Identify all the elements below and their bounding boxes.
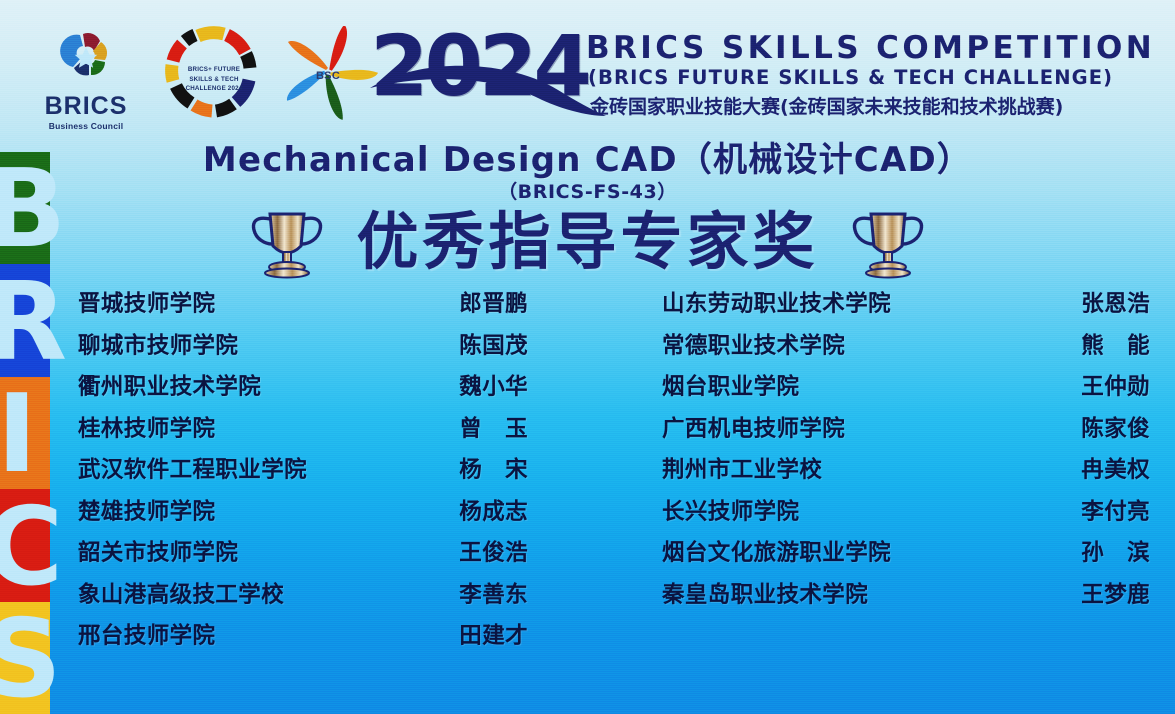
award-headline-row: 优秀指导专家奖 <box>0 196 1175 288</box>
awardee-institution: 楚雄技师学院 <box>78 494 459 526</box>
awardee-row: 烟台职业学院王仲勋 <box>662 369 1150 411</box>
trophy-icon <box>845 202 931 282</box>
awardee-row: 广西机电技师学院陈家俊 <box>662 411 1150 453</box>
awardee-row: 烟台文化旅游职业学院孙 滨 <box>662 535 1150 577</box>
awardee-row: 楚雄技师学院杨成志 <box>78 494 528 536</box>
awardee-institution: 桂林技师学院 <box>78 411 459 443</box>
awardee-person: 张恩浩 <box>1081 286 1150 318</box>
awardee-person: 杨 宋 <box>459 452 528 484</box>
brics-star-icon <box>38 26 134 88</box>
awardee-person: 李付亮 <box>1081 494 1150 526</box>
awardee-institution: 邢台技师学院 <box>78 618 459 650</box>
awardee-person: 曾 玉 <box>459 411 528 443</box>
awardee-institution: 长兴技师学院 <box>662 494 1081 526</box>
awardee-column-left: 晋城技师学院郎晋鹏聊城市技师学院陈国茂衢州职业技术学院魏小华桂林技师学院曾 玉武… <box>78 286 528 660</box>
award-board: BRICS BRICS Business Council <box>0 0 1175 714</box>
year-logo: 2024 <box>370 24 590 126</box>
business-council-text: Business Council <box>38 122 134 131</box>
awardee-institution: 武汉软件工程职业学院 <box>78 452 459 484</box>
awardee-row: 山东劳动职业技术学院张恩浩 <box>662 286 1150 328</box>
awardee-person: 孙 滨 <box>1081 535 1150 567</box>
awardee-institution: 山东劳动职业技术学院 <box>662 286 1081 318</box>
awardee-row: 邢台技师学院田建才 <box>78 618 528 660</box>
awardee-row: 象山港高级技工学校李善东 <box>78 577 528 619</box>
awardee-institution: 烟台职业学院 <box>662 369 1081 401</box>
awardee-institution: 晋城技师学院 <box>78 286 459 318</box>
awardee-person: 王仲勋 <box>1081 369 1150 401</box>
awardee-institution: 韶关市技师学院 <box>78 535 459 567</box>
awardee-person: 田建才 <box>459 618 528 650</box>
brics-wordmark-text: BRICS <box>38 94 134 119</box>
ring-caption: BRICS+ FUTURE SKILLS & TECH CHALLENGE 20… <box>178 65 250 94</box>
awardee-institution: 常德职业技术学院 <box>662 328 1081 360</box>
awardee-institution: 秦皇岛职业技术学院 <box>662 577 1081 609</box>
awardee-person: 郎晋鹏 <box>459 286 528 318</box>
awardee-person: 杨成志 <box>459 494 528 526</box>
awardee-row: 武汉软件工程职业学院杨 宋 <box>78 452 528 494</box>
awardee-person: 冉美权 <box>1081 452 1150 484</box>
awardee-row: 桂林技师学院曾 玉 <box>78 411 528 453</box>
awardee-row: 韶关市技师学院王俊浩 <box>78 535 528 577</box>
ring-caption-line2: SKILLS & TECH <box>178 75 250 85</box>
awardee-person: 熊 能 <box>1081 328 1150 360</box>
ring-caption-line1: BRICS+ FUTURE <box>178 65 250 75</box>
awardee-person: 魏小华 <box>459 369 528 401</box>
awardee-institution: 广西机电技师学院 <box>662 411 1081 443</box>
awardee-person: 王梦鹿 <box>1081 577 1150 609</box>
awardee-person: 王俊浩 <box>459 535 528 567</box>
ring-caption-line3: CHALLENGE 2024 <box>178 84 250 94</box>
competition-subtitle-cn: 金砖国家职业技能大赛(金砖国家未来技能和技术挑战赛) <box>590 92 1063 119</box>
brics-business-council-logo: BRICS Business Council <box>38 26 134 131</box>
bsc-label: BSC <box>274 70 382 82</box>
awardee-column-right: 山东劳动职业技术学院张恩浩常德职业技术学院熊 能烟台职业学院王仲勋广西机电技师学… <box>662 286 1150 618</box>
awardee-person: 李善东 <box>459 577 528 609</box>
awardee-row: 荆州市工业学校冉美权 <box>662 452 1150 494</box>
awardee-person: 陈家俊 <box>1081 411 1150 443</box>
awardee-row: 长兴技师学院李付亮 <box>662 494 1150 536</box>
awardee-row: 秦皇岛职业技术学院王梦鹿 <box>662 577 1150 619</box>
awardee-institution: 象山港高级技工学校 <box>78 577 459 609</box>
awardee-institution: 荆州市工业学校 <box>662 452 1081 484</box>
awardee-lists: 晋城技师学院郎晋鹏聊城市技师学院陈国茂衢州职业技术学院魏小华桂林技师学院曾 玉武… <box>0 286 1175 686</box>
award-title: 优秀指导专家奖 <box>356 211 818 273</box>
awardee-institution: 聊城市技师学院 <box>78 328 459 360</box>
future-skills-ring-logo: BRICS+ FUTURE SKILLS & TECH CHALLENGE 20… <box>148 26 266 127</box>
module-title: Mechanical Design CAD（机械设计CAD） <box>0 132 1175 181</box>
awardee-row: 晋城技师学院郎晋鹏 <box>78 286 528 328</box>
awardee-row: 衢州职业技术学院魏小华 <box>78 369 528 411</box>
year-number: 2024 <box>370 24 588 108</box>
awardee-row: 常德职业技术学院熊 能 <box>662 328 1150 370</box>
logo-row: BRICS Business Council <box>38 26 382 131</box>
awardee-institution: 烟台文化旅游职业学院 <box>662 535 1081 567</box>
bsc-logo: BSC <box>274 26 382 127</box>
trophy-icon <box>244 202 330 282</box>
awardee-person: 陈国茂 <box>459 328 528 360</box>
awardee-row: 聊城市技师学院陈国茂 <box>78 328 528 370</box>
competition-title-en: BRICS SKILLS COMPETITION <box>586 30 1155 66</box>
competition-subtitle-en: (BRICS FUTURE SKILLS & TECH CHALLENGE) <box>588 66 1113 89</box>
awardee-institution: 衢州职业技术学院 <box>78 369 459 401</box>
